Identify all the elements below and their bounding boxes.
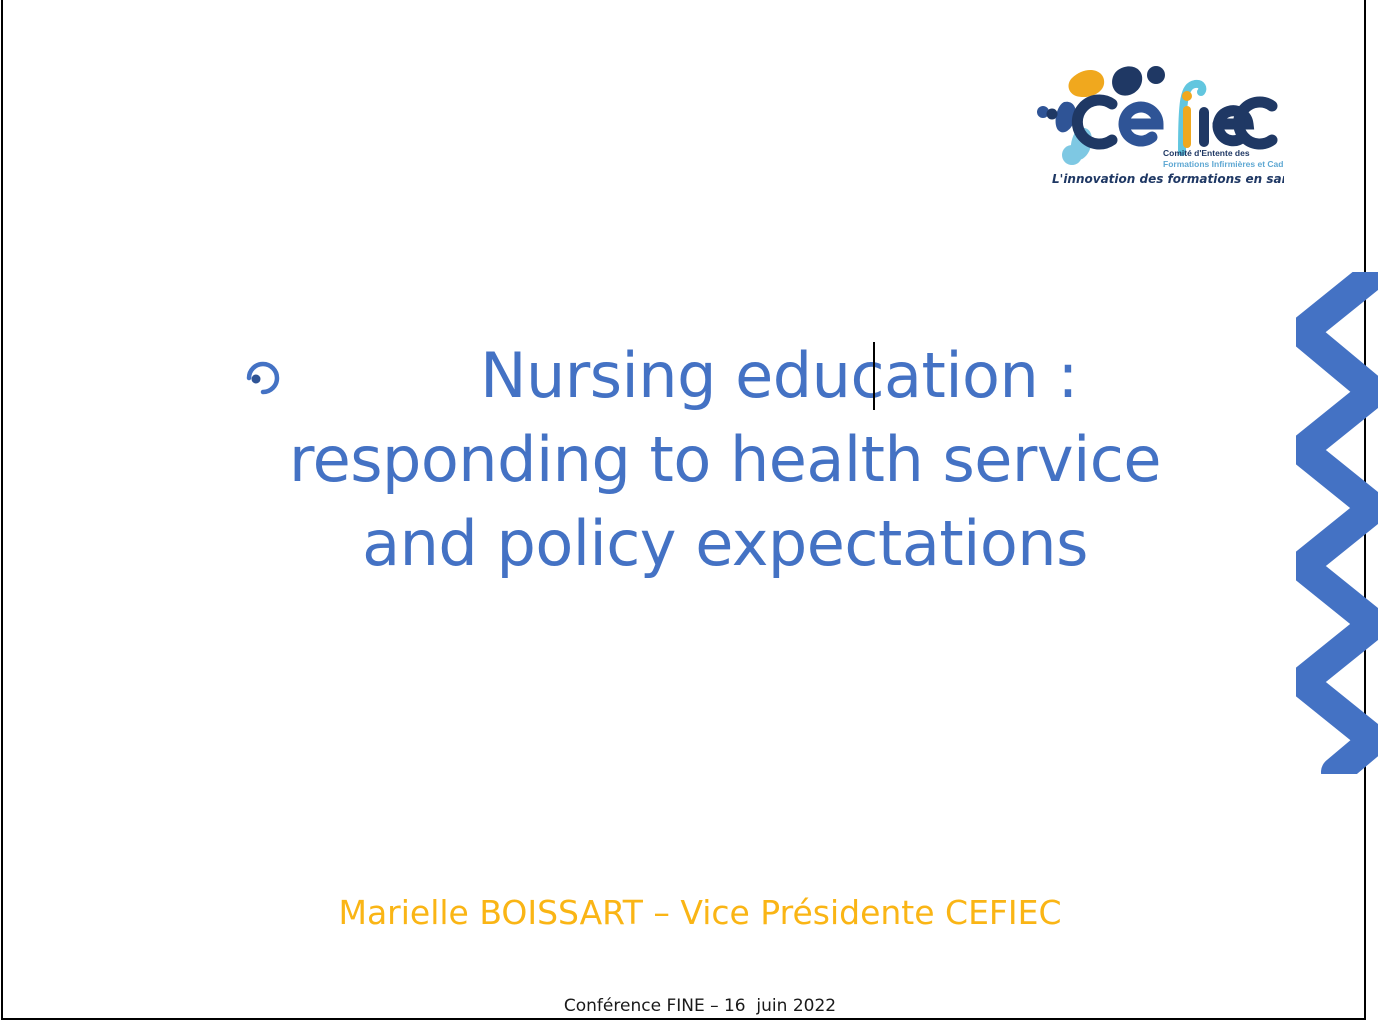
slide-canvas: Comité d'Entente des Formations Infirmiè… [0,0,1378,1022]
logo-teardrops [1037,66,1165,165]
logo-tagline: L'innovation des formations en santé [1052,172,1284,186]
logo-subtitle-line2: Formations Infirmières et Cadres [1163,159,1284,169]
cefiec-logo: Comité d'Entente des Formations Infirmiè… [1032,52,1284,187]
spiral-circle-icon [234,356,280,402]
text-caret [873,342,875,410]
title-line-1: Nursing education : [150,334,1300,418]
logo-wordmark [1077,84,1272,152]
title-line-1-text: Nursing education : [480,339,1078,412]
slide-title[interactable]: Nursing education : responding to health… [150,334,1300,586]
title-line-2: responding to health service [150,418,1300,502]
zigzag-ribbon [1296,272,1378,774]
logo-subtitle-line1: Comité d'Entente des [1163,148,1250,158]
slide-subtitle[interactable]: Marielle BOISSART – Vice Présidente CEFI… [150,892,1250,934]
slide-footer: Conférence FINE – 16 juin 2022 [150,995,1250,1017]
title-line-3: and policy expectations [150,502,1300,586]
